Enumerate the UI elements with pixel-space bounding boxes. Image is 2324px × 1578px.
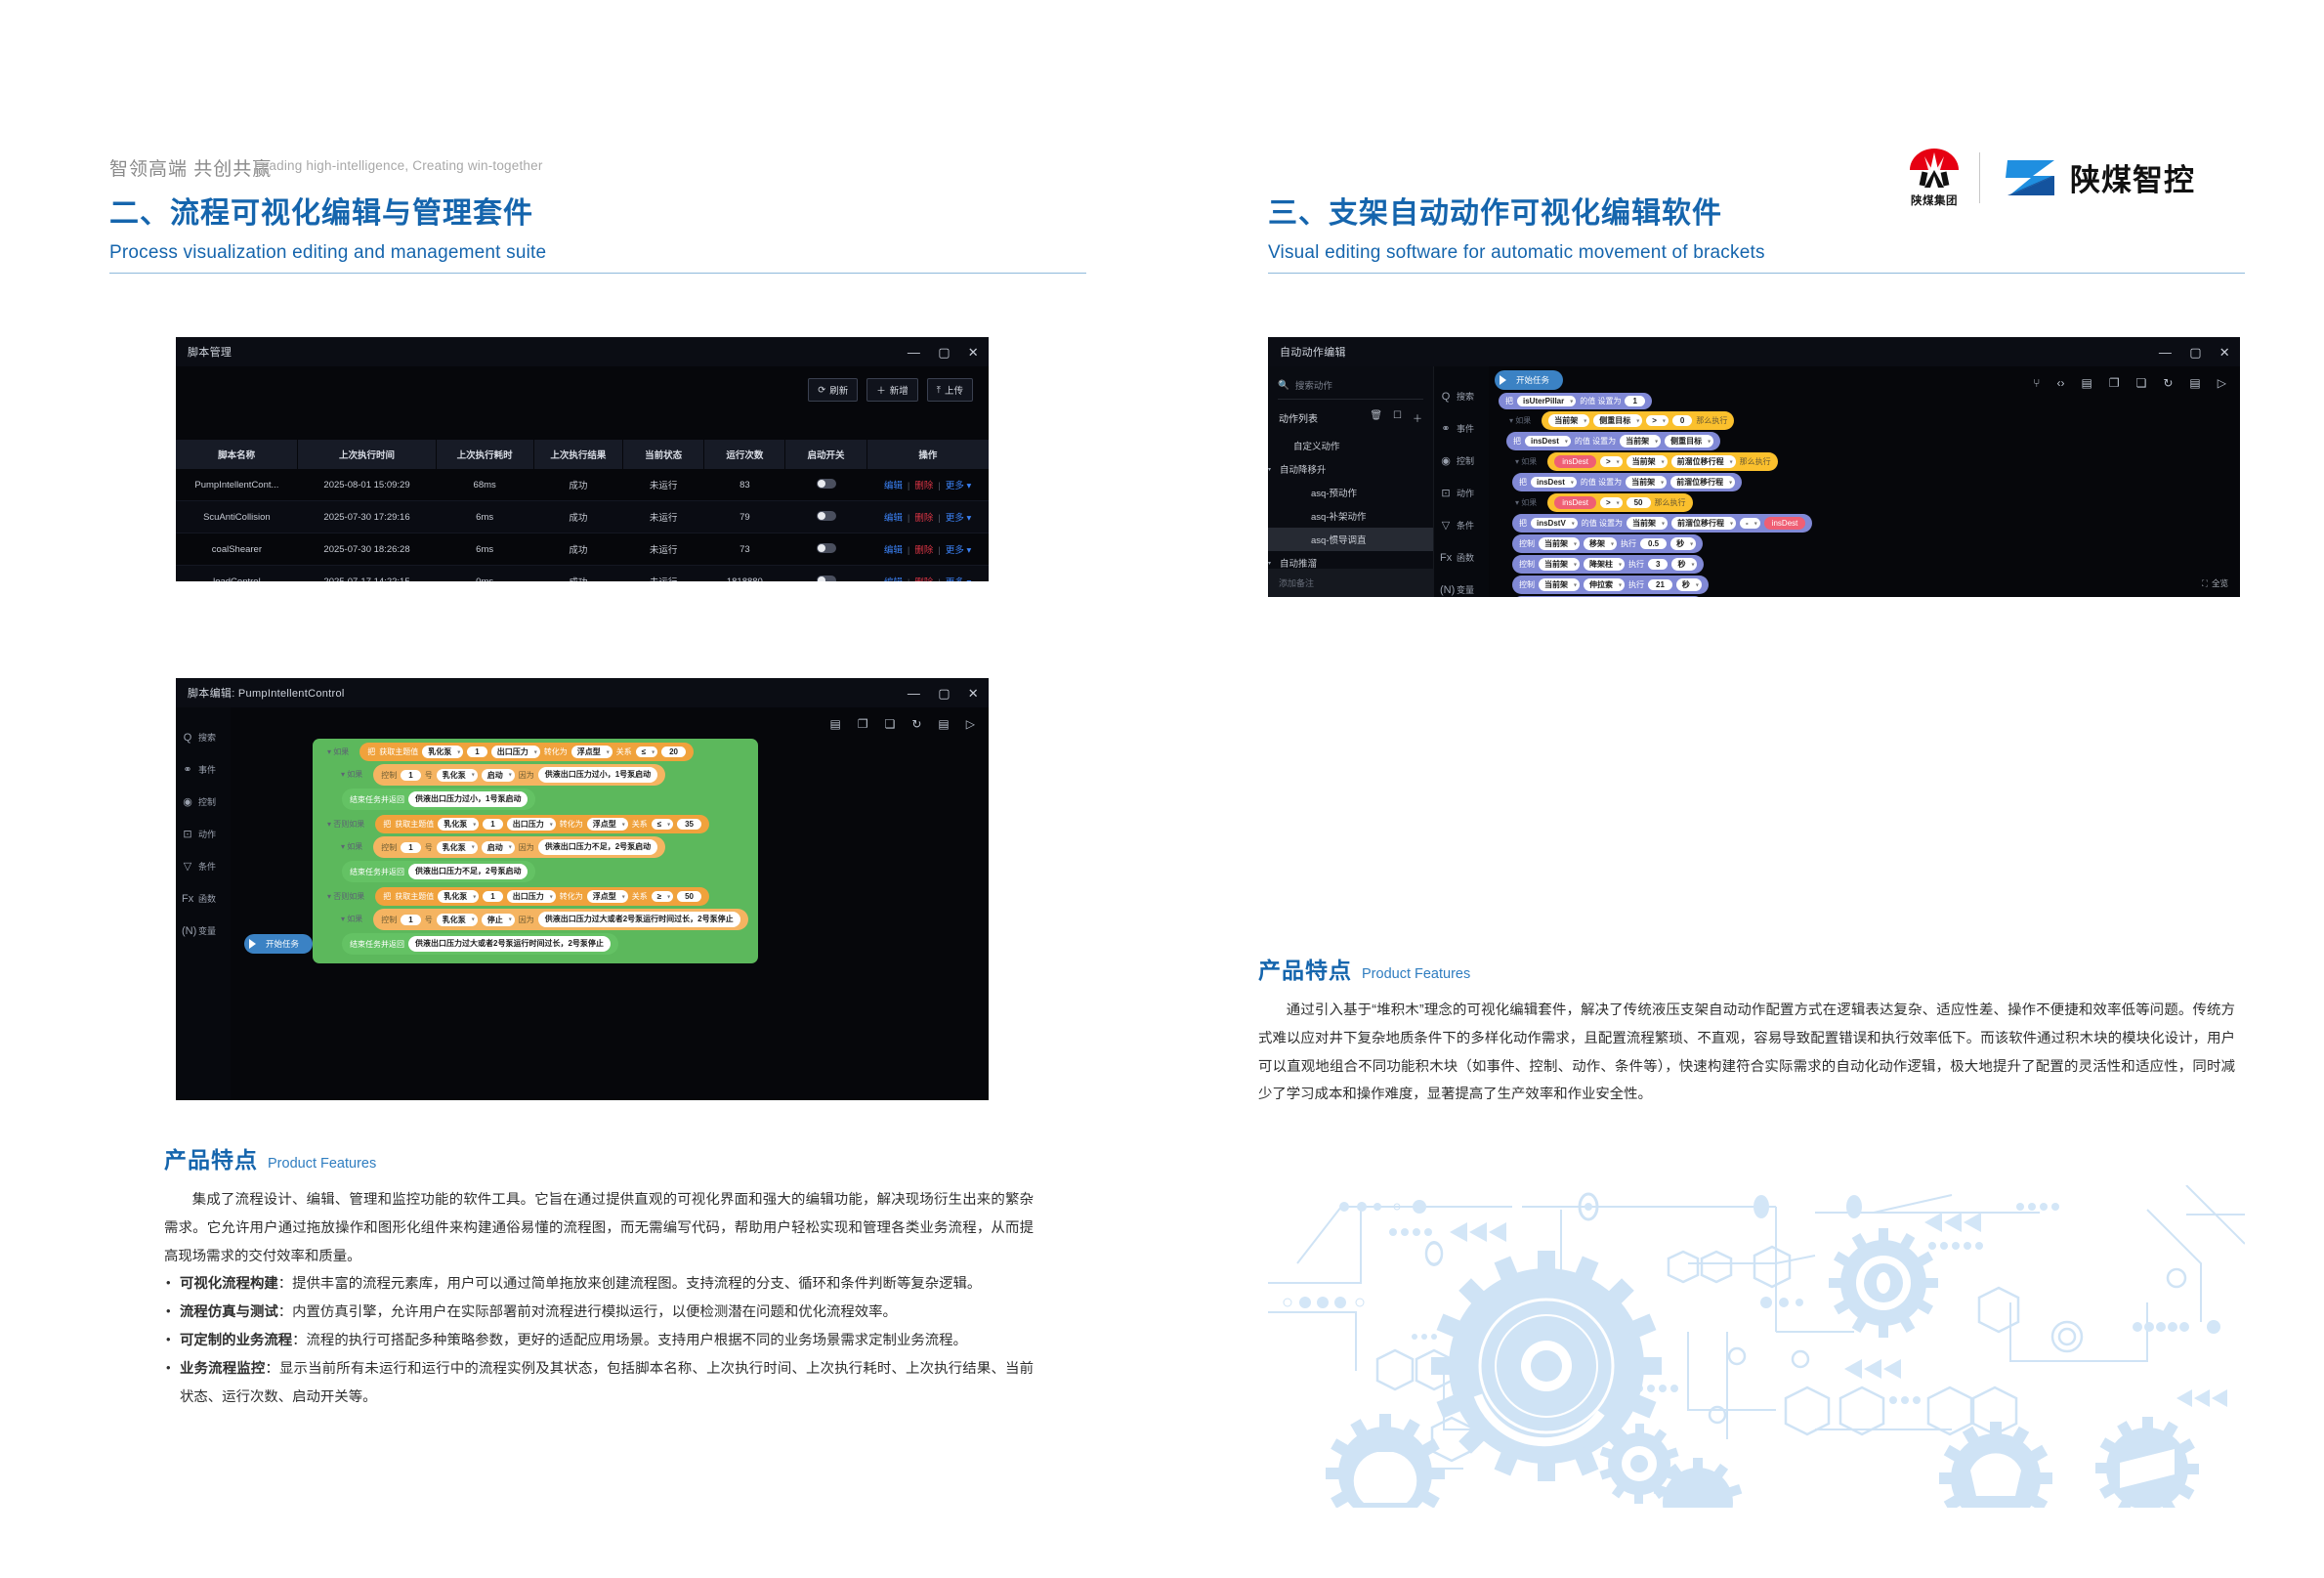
variable-chip[interactable]: insDest [1764,517,1806,530]
block-label: 的值 设置为 [1580,396,1621,406]
operation-select[interactable]: 启动 [482,769,515,782]
features-title-en: Product Features [1362,966,1470,982]
field-select[interactable]: 降架柱 [1584,558,1625,571]
field-select[interactable]: insDstV [1531,518,1578,529]
field-value[interactable]: 3 [1648,559,1668,570]
field-select[interactable]: > [1600,497,1623,508]
block-label: 那么执行 [1655,497,1686,508]
start-switch-toggle[interactable] [817,479,836,489]
reason-text[interactable]: 供液出口压力不足，2号泵启动 [538,839,657,855]
type-select[interactable]: 浮点型 [587,818,628,831]
field-select[interactable]: 前溜位移行程 [1670,476,1735,489]
minimize-icon[interactable]: — [2159,346,2172,359]
list-icon[interactable]: ▤ [2081,376,2092,390]
start-switch-toggle[interactable] [817,511,836,521]
pump-select[interactable]: 乳化泵 [437,914,478,926]
threshold-value[interactable]: 35 [677,819,701,830]
type-select[interactable]: 浮点型 [571,746,613,758]
field-select[interactable]: > [1646,415,1669,426]
palette-item-变量[interactable]: (N)变量 [1434,574,1489,597]
return-block[interactable]: 结束任务并返回供液出口压力过大或者2号泵运行时间过长，2号泵停止 [342,933,618,955]
pump-number[interactable]: 1 [483,891,502,902]
table-row[interactable]: PumpIntellentCont...2025-08-01 15:09:296… [176,469,989,501]
more-link[interactable]: 更多 ▾ [946,513,971,524]
cell-operations: 编辑|删除|更多 ▾ [866,533,989,566]
return-block[interactable]: 结束任务并返回供液出口压力不足，2号泵启动 [342,861,535,882]
refresh-icon: ⟳ [818,385,825,396]
palette-item-控制[interactable]: ◉控制 [176,786,231,818]
event-icon: ⚭ [182,763,193,776]
palette-item-label: 变量 [198,924,216,937]
block-body[interactable]: 把isUterPillar的值 设置为1 [1499,393,1652,409]
feature-bullet-1: 可视化流程构建：提供丰富的流程元素库，用户可以通过简单拖放来创建流程图。支持流程… [164,1270,1034,1299]
pump-select[interactable]: 乳化泵 [437,769,478,782]
fullview-button[interactable]: ⛶ 全览 [2202,577,2228,589]
action-row[interactable]: ▾ 如果控制1号乳化泵启动因为供液出口压力不足，2号泵启动 [334,836,748,858]
field-value[interactable]: 21 [1648,579,1672,590]
field-select[interactable]: 秒 [1671,558,1697,571]
search-icon: Q [1440,391,1452,403]
field-select[interactable]: 当前架 [1627,455,1668,468]
palette-item-动作[interactable]: ⊡动作 [176,818,231,850]
chevron-down-icon[interactable]: ▾ [1268,560,1276,567]
run-icon[interactable]: ▷ [966,717,975,731]
pressure-select[interactable]: 出口压力 [507,818,556,831]
put-label: 把 [383,819,391,830]
close-icon[interactable]: ✕ [968,346,979,359]
save-icon[interactable]: ▤ [2189,376,2200,390]
field-select[interactable]: 移架 [1584,537,1617,550]
because-label: 因为 [519,915,534,925]
table-row[interactable]: loadControl2025-07-17 14:22:150ms成功未运行18… [176,566,989,582]
block-label: 控制 [1519,579,1535,590]
condition-keyword: ▾ 否则如果 [320,817,371,832]
auto-window-titlebar: 自动动作编辑 — ▢ ✕ [1268,337,2240,366]
copy-icon[interactable]: ❐ [2109,376,2120,390]
palette-item-搜索[interactable]: Q搜索 [176,721,231,753]
block-body[interactable]: insDest>当前架前溜位移行程那么执行 [1547,452,1777,471]
editor-canvas[interactable]: ▤❐❏↻▤▷ 开始任务▾ 如果把获取主题值乳化泵1出口压力转化为浮点型关系≤20… [231,707,989,1100]
palette-item-函数[interactable]: Fx函数 [176,882,231,915]
variable-chip[interactable]: insDest [1554,455,1596,468]
palette-item-函数[interactable]: Fx函数 [1434,541,1489,574]
return-block[interactable]: 结束任务并返回供液出口压力过小，1号泵启动 [342,789,535,810]
close-icon[interactable]: ✕ [968,687,979,700]
because-label: 因为 [519,842,534,853]
action-row[interactable]: 控制当前架收顶梁执行3秒 [1512,596,2082,597]
field-select[interactable]: 秒 [1676,578,1702,591]
cell-result: 成功 [533,501,623,533]
block-label: 执行 [1628,559,1644,570]
editor-window-titlebar: 脚本编辑: PumpIntellentControl — ▢ ✕ [176,678,989,707]
right-section-title-cn: 三、支架自动动作可视化编辑软件 [1268,195,2245,233]
field-select[interactable]: isUterPillar [1517,396,1576,406]
minimize-icon[interactable]: — [908,687,920,700]
auto-editor-body: 🔍 搜索动作 动作列表 🗑 ☐ ＋ 自定义动作▾自动降移升asq-预动作asq-… [1268,366,2240,597]
control-number[interactable]: 1 [401,842,420,853]
palette-item-条件[interactable]: ▽条件 [176,850,231,882]
start-task-block[interactable]: 开始任务 [1495,370,1563,390]
palette-item-label: 条件 [1457,519,1474,532]
editor-window-controls: — ▢ ✕ [908,678,979,707]
cell-count: 1818880 [704,566,785,582]
action-keyword: ▾ 如果 [334,912,369,927]
block-body[interactable]: 把insDest的值 设置为当前架前溜位移行程 [1512,473,1742,491]
pump-select[interactable]: 乳化泵 [438,890,479,903]
action-expression[interactable]: 控制1号乳化泵启动因为供液出口压力过小，1号泵启动 [373,764,665,786]
field-select[interactable]: 当前架 [1539,537,1580,550]
script-table-header-row: 脚本名称 上次执行时间 上次执行耗时 上次执行结果 当前状态 运行次数 启动开关… [176,440,989,469]
field-select[interactable]: 侧重目标 [1665,435,1713,448]
block-body[interactable]: 控制当前架移架执行0.5秒 [1512,534,1703,553]
field-select[interactable]: 当前架 [1627,517,1668,530]
condition-icon: ▽ [182,860,193,873]
field-select[interactable]: 侧重目标 [1593,414,1642,427]
comparator-select[interactable]: ≤ [636,746,657,757]
pump-number[interactable]: 1 [467,746,486,757]
condition-row[interactable]: ▾ 如果把获取主题值乳化泵1出口压力转化为浮点型关系≤20 [320,743,748,761]
op-separator: | [938,481,940,491]
action-note-field[interactable]: 添加备注 [1268,569,1434,597]
cell-state: 未运行 [623,469,704,501]
palette-item-label: 动作 [198,828,216,840]
paste-icon[interactable]: ❏ [2136,376,2147,390]
brochure-page-spread: 智领高端 共创共赢 Leading high-intelligence, Cre… [0,0,2324,1578]
refresh-button[interactable]: ⟳ 刷新 [808,378,858,402]
block-body[interactable]: 控制当前架降架柱执行3秒 [1512,555,1704,574]
field-select[interactable]: 当前架 [1539,558,1580,571]
palette-item-条件[interactable]: ▽条件 [1434,509,1489,541]
col-duration[interactable]: 上次执行耗时 [436,440,533,469]
cell-switch [785,469,866,501]
table-row[interactable]: ScuAntiCollision2025-07-30 17:29:166ms成功… [176,501,989,533]
type-select[interactable]: 浮点型 [587,890,628,903]
cell-result: 成功 [533,566,623,582]
pump-select[interactable]: 乳化泵 [422,746,463,758]
col-state[interactable]: 当前状态 [623,440,704,469]
field-select[interactable]: 当前架 [1626,476,1667,489]
add-label: 新增 [890,383,908,397]
block-label: 那么执行 [1696,415,1727,426]
field-value[interactable]: 0 [1672,415,1692,426]
col-ops[interactable]: 操作 [866,440,989,469]
col-last-time[interactable]: 上次执行时间 [298,440,436,469]
close-icon[interactable]: ✕ [2219,346,2230,359]
more-link[interactable]: 更多 ▾ [946,577,971,581]
field-value[interactable]: 50 [1627,497,1651,508]
rule-group-3: ▾ 否则如果把获取主题值乳化泵1出口压力转化为浮点型关系≥50▾ 如果控制1号乳… [320,887,748,955]
edit-link[interactable]: 编辑 [884,577,903,581]
cell-count: 79 [704,501,785,533]
maximize-icon[interactable]: ▢ [2189,346,2202,359]
edit-link[interactable]: 编辑 [884,545,903,556]
block-body[interactable]: 把insDstV的值 设置为当前架前溜位移行程-insDest [1512,514,1812,533]
action-tree-item-asq-预动作[interactable]: asq-预动作 [1268,481,1433,504]
block-label: 把 [1513,436,1521,447]
field-select[interactable]: insDest [1525,436,1571,447]
reason-text[interactable]: 供液出口压力过小，1号泵启动 [538,767,657,783]
left-product-features: 产品特点 Product Features 集成了流程设计、编辑、管理和监控功能… [164,1141,1034,1412]
field-select[interactable]: 前溜位移行程 [1671,455,1736,468]
editor-palette-sidebar: Q搜索⚭事件◉控制⊡动作▽条件Fx函数(N)变量 [176,707,231,1100]
palette-item-动作[interactable]: ⊡动作 [1434,477,1489,509]
comparator-select[interactable]: ≤ [652,819,673,830]
condition-keyword: ▾ 如果 [320,745,356,760]
set-var-row[interactable]: 把insDest的值 设置为当前架侧重目标 [1506,432,2082,450]
refresh-label: 刷新 [829,383,848,397]
pressure-select[interactable]: 出口压力 [491,746,540,758]
script-toolbar: ⟳ 刷新 ＋ 新增 ⤒ 上传 [176,366,989,411]
block-label: 的值 设置为 [1575,436,1616,447]
block-label: 控制 [1519,538,1535,549]
cell-result: 成功 [533,533,623,566]
reason-text[interactable]: 供液出口压力过大或者2号泵运行时间过长，2号泵停止 [538,912,740,927]
rule-group-1: ▾ 如果把获取主题值乳化泵1出口压力转化为浮点型关系≤20▾ 如果控制1号乳化泵… [320,743,748,810]
editor-block-stack[interactable]: 开始任务▾ 如果把获取主题值乳化泵1出口压力转化为浮点型关系≤20▾ 如果控制1… [244,739,758,963]
delete-link[interactable]: 删除 [914,577,933,581]
cell-operations: 编辑|删除|更多 ▾ [866,469,989,501]
editor-toolbar: ▤❐❏↻▤▷ [829,717,975,731]
condition-expression[interactable]: 把获取主题值乳化泵1出口压力转化为浮点型关系≤20 [359,743,694,761]
refresh-icon[interactable]: ↻ [911,717,921,731]
palette-item-搜索[interactable]: Q搜索 [1434,380,1489,412]
action-tree-item-asq-惯导调直[interactable]: asq-惯导调直 [1268,528,1433,551]
action-expression[interactable]: 控制1号乳化泵停止因为供液出口压力过大或者2号泵运行时间过长，2号泵停止 [373,909,747,930]
more-link[interactable]: 更多 ▾ [946,545,971,556]
put-label: 把 [367,746,375,757]
action-tree-label: 自动推溜 [1280,556,1317,570]
op-separator: | [908,577,909,581]
right-section-heading: 三、支架自动动作可视化编辑软件 Visual editing software … [1268,195,2245,274]
search-icon: 🔍 [1278,380,1289,391]
condition-keyword: ▾ 否则如果 [320,889,371,905]
control-number[interactable]: 1 [401,915,420,925]
threshold-value[interactable]: 20 [661,746,686,757]
control-icon: ◉ [1440,454,1452,467]
cell-last-time: 2025-07-30 17:29:16 [298,501,436,533]
condition-row[interactable]: ▾ 否则如果把获取主题值乳化泵1出口压力转化为浮点型关系≤35 [320,815,748,833]
relation-label: 关系 [616,746,632,757]
operation-select[interactable]: 停止 [482,914,515,926]
features-title-en: Product Features [268,1156,376,1172]
feature-bullet-term: 业务流程监控 [180,1361,265,1377]
set-var-row[interactable]: 把insDest的值 设置为当前架前溜位移行程 [1512,473,2082,491]
copy-icon[interactable]: ❐ [858,717,868,731]
feature-bullet-term: 流程仿真与测试 [180,1304,278,1320]
start-task-block[interactable]: 开始任务 [244,934,313,954]
script-table-body: PumpIntellentCont...2025-08-01 15:09:296… [176,469,989,581]
field-select[interactable]: - [1740,518,1760,529]
field-select[interactable]: 前溜位移行程 [1671,517,1736,530]
threshold-value[interactable]: 50 [677,891,701,902]
paste-icon[interactable]: ❏ [885,717,896,731]
action-expression[interactable]: 控制1号乳化泵启动因为供液出口压力不足，2号泵启动 [373,836,665,858]
feature-bullet-term: 可定制的业务流程 [180,1333,292,1348]
return-message[interactable]: 供液出口压力不足，2号泵启动 [408,864,528,879]
left-section-rule [109,273,1086,275]
rule-group-2: ▾ 否则如果把获取主题值乳化泵1出口压力转化为浮点型关系≤35▾ 如果控制1号乳… [320,815,748,882]
cell-script-name: ScuAntiCollision [176,501,298,533]
condition-expression[interactable]: 把获取主题值乳化泵1出口压力转化为浮点型关系≥50 [375,887,709,906]
slogan-chinese: 智领高端 共创共赢 [109,154,272,181]
action-icon: ⊡ [182,828,193,840]
action-tree-item-自动降移升[interactable]: ▾自动降移升 [1268,457,1433,481]
cell-script-name: PumpIntellentCont... [176,469,298,501]
delete-link[interactable]: 删除 [914,545,933,556]
palette-item-label: 事件 [198,763,216,776]
chevron-down-icon[interactable]: ▾ [1268,466,1276,473]
fullview-icon: ⛶ [2202,578,2208,589]
cell-operations: 编辑|删除|更多 ▾ [866,566,989,582]
action-icon: ⊡ [1440,487,1452,499]
block-body[interactable]: 当前架侧重目标>0那么执行 [1542,411,1734,430]
if-row-1[interactable]: ▾ 如果当前架侧重目标>0那么执行 [1502,411,2082,430]
field-select[interactable]: 秒 [1670,537,1696,550]
operation-select[interactable]: 启动 [482,841,515,854]
palette-item-控制[interactable]: ◉控制 [1434,445,1489,477]
feature-bullet-term: 可视化流程构建 [180,1276,278,1292]
action-tree-label: asq-惯导调直 [1311,533,1366,546]
action-search-placeholder: 搜索动作 [1295,378,1332,392]
col-count[interactable]: 运行次数 [704,440,785,469]
field-select[interactable]: 当前架 [1620,435,1661,448]
palette-item-label: 搜索 [198,731,216,744]
block-body[interactable]: insDest>50那么执行 [1547,493,1692,512]
editor-body: Q搜索⚭事件◉控制⊡动作▽条件Fx函数(N)变量 ▤❐❏↻▤▷ 开始任务▾ 如果… [176,707,989,1100]
run-icon[interactable]: ▷ [2218,376,2226,390]
action-search-row[interactable]: 🔍 搜索动作 [1278,378,1423,400]
condition-row[interactable]: ▾ 否则如果把获取主题值乳化泵1出口压力转化为浮点型关系≥50 [320,887,748,906]
list-icon[interactable]: ▤ [829,717,840,731]
edit-link[interactable]: 编辑 [884,513,903,524]
if-row-2[interactable]: ▾ 如果insDest>当前架前溜位移行程那么执行 [1508,452,2082,471]
if-row-3[interactable]: ▾ 如果insDest>50那么执行 [1508,493,2082,512]
return-message[interactable]: 供液出口压力过大或者2号泵运行时间过长，2号泵停止 [408,936,611,952]
action-row[interactable]: 控制当前架降架柱执行3秒 [1512,555,2082,574]
pump-select[interactable]: 乳化泵 [437,841,478,854]
action-row[interactable]: ▾ 如果控制1号乳化泵启动因为供液出口压力过小，1号泵启动 [334,764,748,786]
add-button[interactable]: ＋ 新增 [866,378,918,402]
set-var-row[interactable]: 把isUterPillar的值 设置为1 [1499,393,2082,409]
cell-last-time: 2025-07-17 14:22:15 [298,566,436,582]
col-script-name[interactable]: 脚本名称 [176,440,298,469]
block-body[interactable]: 控制当前架收顶梁执行3秒 [1512,596,1704,597]
maximize-icon[interactable]: ▢ [938,687,951,700]
trash-icon[interactable]: 🗑 [1370,410,1382,425]
save-icon[interactable]: ▤ [938,717,949,731]
field-value[interactable]: 1 [1625,396,1644,406]
refresh-icon[interactable]: ↻ [2163,376,2173,390]
cell-last-time: 2025-07-30 18:26:28 [298,533,436,566]
cell-last-time: 2025-08-01 15:09:29 [298,469,436,501]
action-row[interactable]: 控制当前架移架执行0.5秒 [1512,534,2082,553]
variable-icon: (N) [1440,584,1452,596]
features-title-cn: 产品特点 [1258,952,1352,985]
table-row[interactable]: coalShearer2025-07-30 18:26:286ms成功未运行73… [176,533,989,566]
action-tree-item-asq-补架动作[interactable]: asq-补架动作 [1268,504,1433,528]
action-row[interactable]: ▾ 如果控制1号乳化泵停止因为供液出口压力过大或者2号泵运行时间过长，2号泵停止 [334,909,748,930]
field-select[interactable]: 当前架 [1539,578,1580,591]
variable-chip[interactable]: insDest [1554,496,1596,509]
control-label: 控制 [381,915,397,925]
edit-icon[interactable]: ☐ [1393,410,1402,425]
return-row[interactable]: 结束任务并返回供液出口压力过大或者2号泵运行时间过长，2号泵停止 [342,933,748,955]
fullview-label: 全览 [2212,577,2228,589]
pump-number[interactable]: 1 [483,819,502,830]
field-select[interactable]: 当前架 [1548,414,1589,427]
minimize-icon[interactable]: — [908,346,920,359]
control-number[interactable]: 1 [401,770,420,781]
delete-link[interactable]: 删除 [914,513,933,524]
return-row[interactable]: 结束任务并返回供液出口压力过小，1号泵启动 [342,789,748,810]
put-label: 把 [383,891,391,902]
cell-count: 73 [704,533,785,566]
block-label: 执行 [1621,538,1636,549]
auto-block-stack[interactable]: 开始任务把isUterPillar的值 设置为1▾ 如果当前架侧重目标>0那么执… [1495,370,2082,597]
edit-link[interactable]: 编辑 [884,481,903,491]
script-window-controls: — ▢ ✕ [908,337,979,366]
action-keyword: ▾ 如果 [334,767,369,783]
page-header: 智领高端 共创共赢 Leading high-intelligence, Cre… [0,76,2324,135]
comparator-select[interactable]: ≥ [652,891,673,902]
field-select[interactable]: > [1600,456,1623,467]
plus-icon[interactable]: ＋ [1413,410,1422,425]
maximize-icon[interactable]: ▢ [938,346,951,359]
field-select[interactable]: insDest [1531,477,1577,488]
action-row[interactable]: 控制当前架伸拉索执行21秒 [1512,576,2082,594]
action-tree-item-自定义动作[interactable]: 自定义动作 [1268,434,1433,457]
cell-duration: 6ms [436,533,533,566]
set-var-row[interactable]: 把insDstV的值 设置为当前架前溜位移行程-insDest [1512,514,2082,533]
cell-duration: 68ms [436,469,533,501]
relation-label: 关系 [632,819,648,830]
delete-link[interactable]: 删除 [914,481,933,491]
field-value[interactable]: 0.5 [1640,538,1667,549]
start-switch-toggle[interactable] [817,543,836,553]
cell-script-name: coalShearer [176,533,298,566]
start-switch-toggle[interactable] [817,576,836,582]
more-link[interactable]: 更多 ▾ [946,481,971,491]
upload-button[interactable]: ⤒ 上传 [927,378,973,402]
event-icon: ⚭ [1440,422,1452,435]
return-message[interactable]: 供液出口压力过小，1号泵启动 [408,791,528,807]
condition-expression[interactable]: 把获取主题值乳化泵1出口压力转化为浮点型关系≤35 [375,815,709,833]
col-result[interactable]: 上次执行结果 [533,440,623,469]
palette-item-label: 控制 [1457,454,1474,467]
op-separator: | [938,545,940,556]
col-switch[interactable]: 启动开关 [785,440,866,469]
palette-item-事件[interactable]: ⚭事件 [1434,412,1489,445]
pressure-select[interactable]: 出口压力 [507,890,556,903]
return-row[interactable]: 结束任务并返回供液出口压力不足，2号泵启动 [342,861,748,882]
block-keyword: ▾ 如果 [1508,454,1543,470]
palette-item-变量[interactable]: (N)变量 [176,915,231,947]
palette-item-label: 事件 [1457,422,1474,435]
pump-select[interactable]: 乳化泵 [438,818,479,831]
auto-editor-canvas[interactable]: ⑂‹›▤❐❏↻▤▷ 开始任务把isUterPillar的值 设置为1▾ 如果当前… [1489,366,2240,597]
cell-switch [785,566,866,582]
block-body[interactable]: 把insDest的值 设置为当前架侧重目标 [1506,432,1720,450]
field-select[interactable]: 伸拉索 [1584,578,1625,591]
block-body[interactable]: 控制当前架伸拉索执行21秒 [1512,576,1709,594]
action-tree-label: asq-预动作 [1311,486,1357,499]
block-keyword: ▾ 如果 [1508,495,1543,511]
left-features-heading: 产品特点 Product Features [164,1141,1034,1174]
end-return-label: 结束任务并返回 [350,794,404,805]
get-value-label: 获取主题值 [395,819,434,830]
palette-item-事件[interactable]: ⚭事件 [176,753,231,786]
script-table-container: 脚本名称 上次执行时间 上次执行耗时 上次执行结果 当前状态 运行次数 启动开关… [176,440,989,581]
